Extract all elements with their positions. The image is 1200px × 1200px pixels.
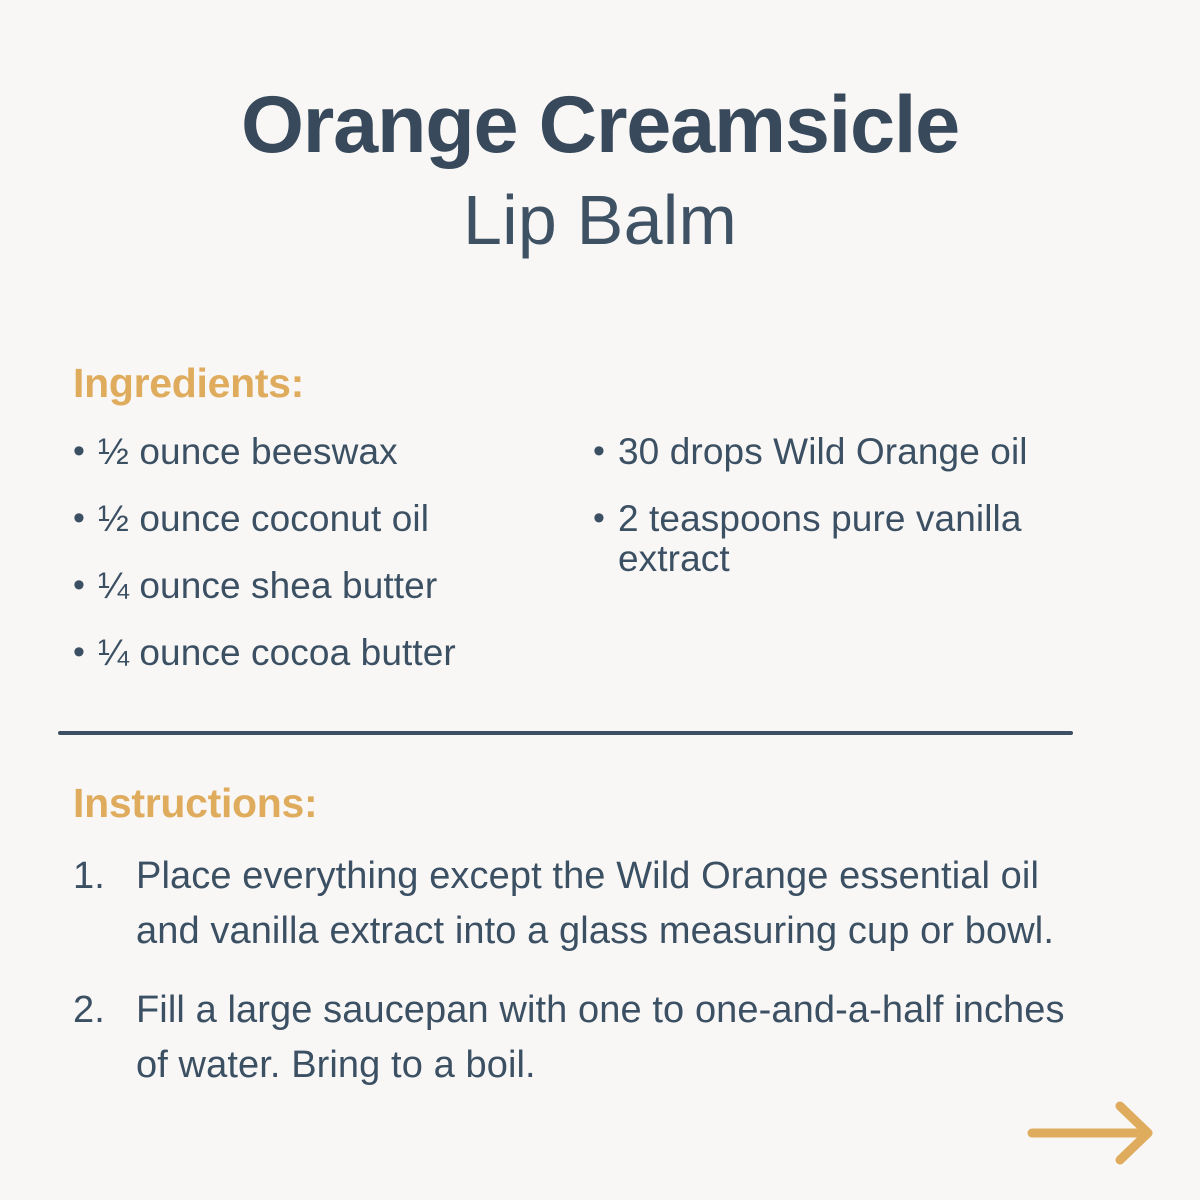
list-item: • 30 drops Wild Orange oil xyxy=(593,432,1143,472)
ingredient-text: ¼ ounce shea butter xyxy=(98,566,593,606)
bullet-icon: • xyxy=(73,432,98,471)
ingredients-list: • ½ ounce beeswax • ½ ounce coconut oil … xyxy=(73,432,1143,700)
bullet-icon: • xyxy=(593,499,618,538)
page-subtitle: Lip Balm xyxy=(0,183,1200,259)
arrow-right-glyph xyxy=(1026,1100,1160,1166)
list-item: • ¼ ounce shea butter xyxy=(73,566,593,606)
ingredients-heading: Ingredients: xyxy=(73,363,304,404)
bullet-icon: • xyxy=(593,432,618,471)
step-text: Place everything except the Wild Orange … xyxy=(136,849,1083,959)
list-item: • ¼ ounce cocoa butter xyxy=(73,633,593,673)
ingredient-text: 30 drops Wild Orange oil xyxy=(618,432,1143,472)
ingredient-text: ½ ounce beeswax xyxy=(98,432,593,472)
page-title: Orange Creamsicle xyxy=(0,84,1200,167)
instructions-heading: Instructions: xyxy=(73,783,317,824)
list-item: • 2 teaspoons pure vanilla extract xyxy=(593,499,1143,579)
title-block: Orange Creamsicle Lip Balm xyxy=(0,84,1200,259)
bullet-icon: • xyxy=(73,566,98,605)
step-number: 2. xyxy=(73,983,136,1038)
arrow-right-icon[interactable] xyxy=(1026,1100,1160,1166)
ingredient-text: ¼ ounce cocoa butter xyxy=(98,633,593,673)
list-item: 1. Place everything except the Wild Oran… xyxy=(73,849,1083,959)
ingredient-text: 2 teaspoons pure vanilla extract xyxy=(618,499,1143,579)
list-item: 2. Fill a large saucepan with one to one… xyxy=(73,983,1083,1093)
section-divider xyxy=(58,731,1073,735)
list-item: • ½ ounce beeswax xyxy=(73,432,593,472)
instructions-list: 1. Place everything except the Wild Oran… xyxy=(73,849,1083,1117)
list-item: • ½ ounce coconut oil xyxy=(73,499,593,539)
recipe-card: Orange Creamsicle Lip Balm Ingredients: … xyxy=(0,0,1200,1200)
ingredients-column-right: • 30 drops Wild Orange oil • 2 teaspoons… xyxy=(593,432,1143,606)
step-number: 1. xyxy=(73,849,136,904)
bullet-icon: • xyxy=(73,499,98,538)
bullet-icon: • xyxy=(73,633,98,672)
step-text: Fill a large saucepan with one to one-an… xyxy=(136,983,1083,1093)
ingredients-column-left: • ½ ounce beeswax • ½ ounce coconut oil … xyxy=(73,432,593,700)
ingredient-text: ½ ounce coconut oil xyxy=(98,499,593,539)
